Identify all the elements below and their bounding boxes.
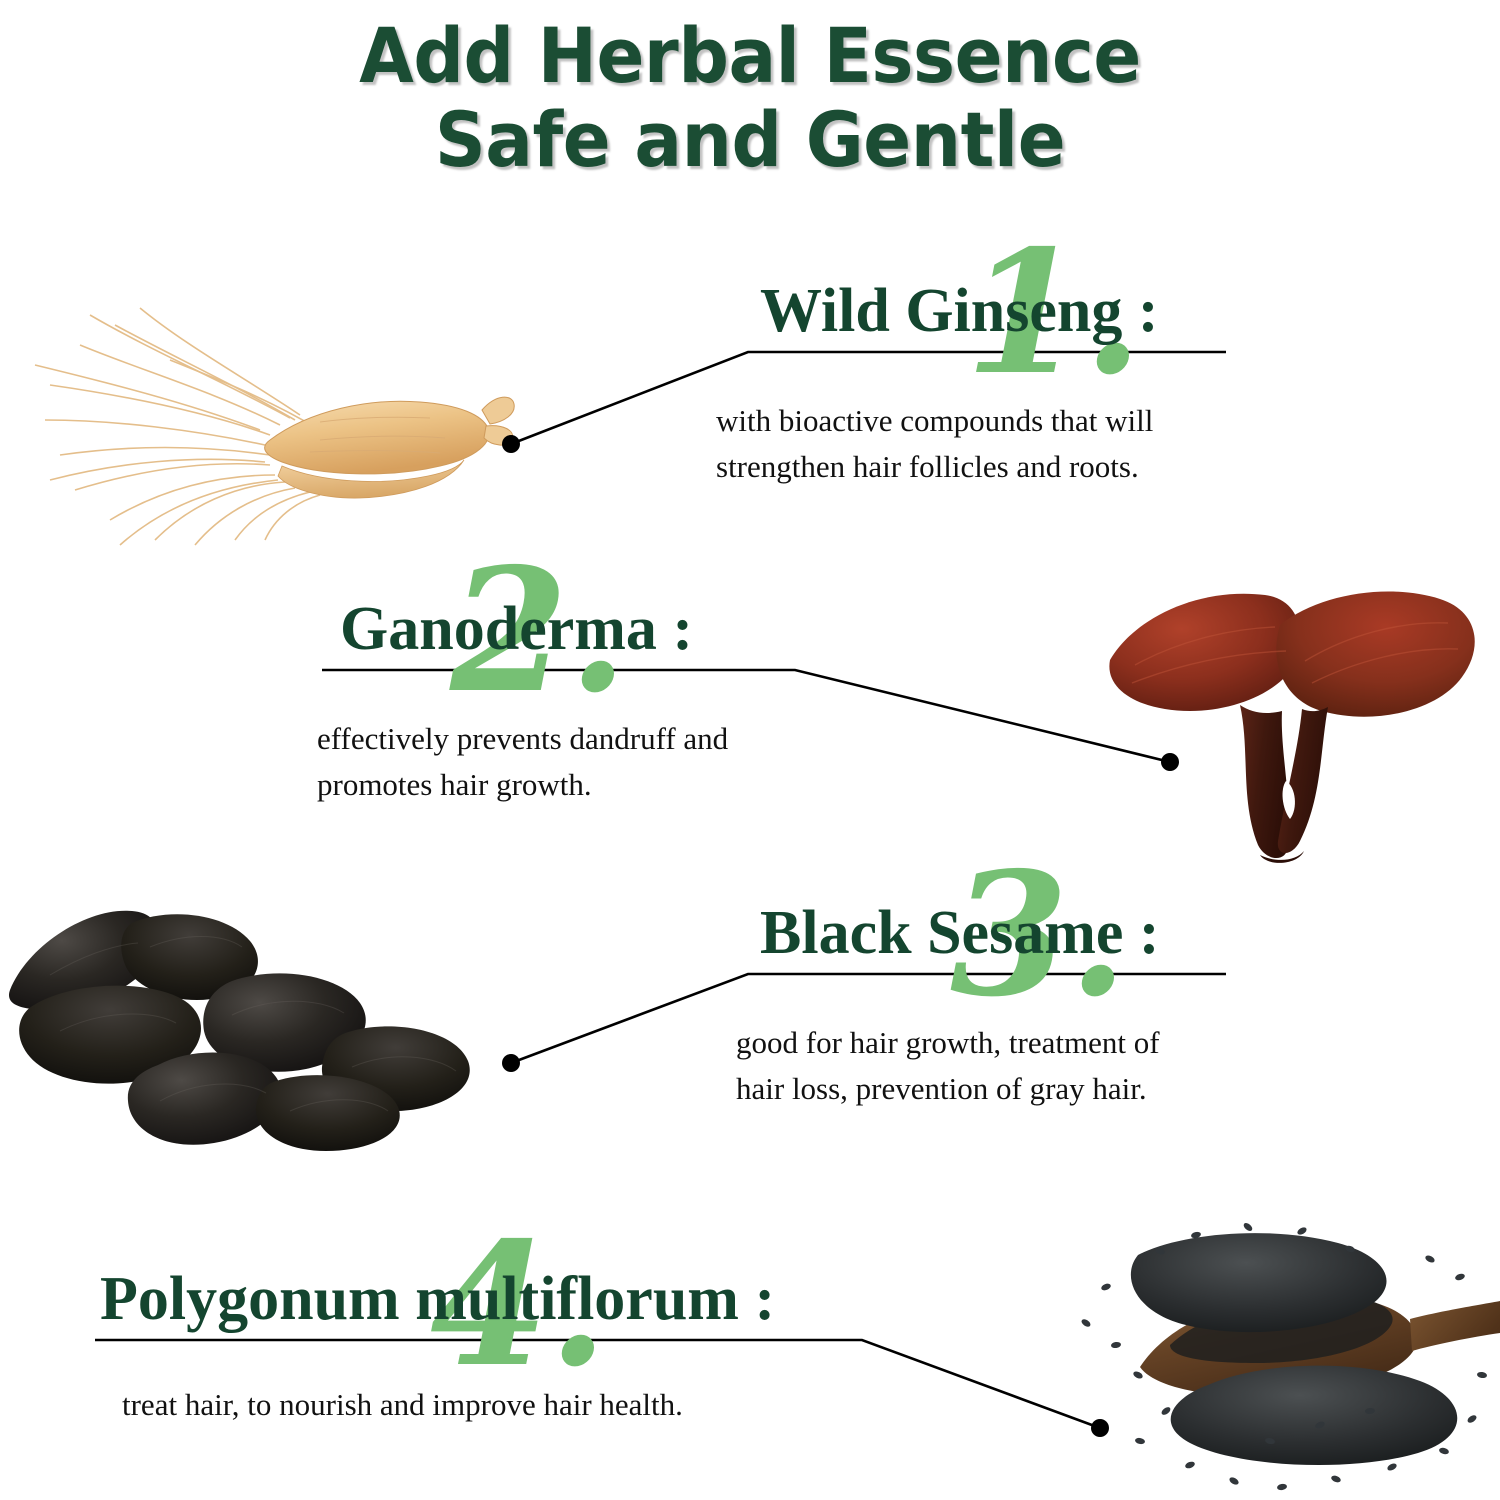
ingredient-title-2: Ganoderma : [340, 595, 693, 663]
ingredient-heading-row-1: 1. Wild Ginseng : [760, 276, 1280, 346]
ingredient-item-2: 2. Ganoderma : effectively prevents dand… [340, 594, 880, 808]
ingredient-heading-row-3: 3. Black Sesame : [760, 898, 1280, 968]
ingredient-description-3: good for hair growth, treatment of hair … [736, 1020, 1280, 1112]
herbal-ingredients-infographic: Add Herbal Essence Safe and Gentle [0, 0, 1500, 1500]
ganoderma-mushroom-photo [1090, 565, 1490, 865]
ingredient-title-4: Polygonum multiflorum : [100, 1265, 775, 1333]
ganoderma-illustration [1090, 565, 1490, 865]
title-line-1: Add Herbal Essence [53, 14, 1448, 98]
ingredient-heading-row-2: 2. Ganoderma : [340, 594, 880, 664]
ingredient-item-1: 1. Wild Ginseng : with bioactive compoun… [760, 276, 1280, 490]
dried-black-slices-photo [0, 885, 500, 1175]
ingredient-description-4: treat hair, to nourish and improve hair … [122, 1382, 920, 1428]
ingredient-item-3: 3. Black Sesame : good for hair growth, … [760, 898, 1280, 1112]
sesame-scoop-illustration [1020, 1215, 1500, 1500]
ingredient-item-4: 4. Polygonum multiflorum : treat hair, t… [100, 1264, 920, 1428]
ingredient-title-3: Black Sesame : [760, 899, 1160, 967]
ingredient-description-1: with bioactive compounds that will stren… [716, 398, 1280, 490]
black-sesame-seeds-scoop-photo [1020, 1215, 1500, 1500]
ingredient-description-2: effectively prevents dandruff and promot… [317, 716, 880, 808]
ingredient-title-1: Wild Ginseng : [760, 277, 1159, 345]
ingredient-heading-row-4: 4. Polygonum multiflorum : [100, 1264, 920, 1334]
title-line-2: Safe and Gentle [53, 98, 1448, 182]
leader-dot-3 [502, 1054, 520, 1072]
page-title: Add Herbal Essence Safe and Gentle [0, 14, 1500, 182]
ginseng-illustration [20, 290, 520, 550]
black-slices-illustration [0, 885, 500, 1175]
wild-ginseng-root-photo [20, 290, 520, 550]
